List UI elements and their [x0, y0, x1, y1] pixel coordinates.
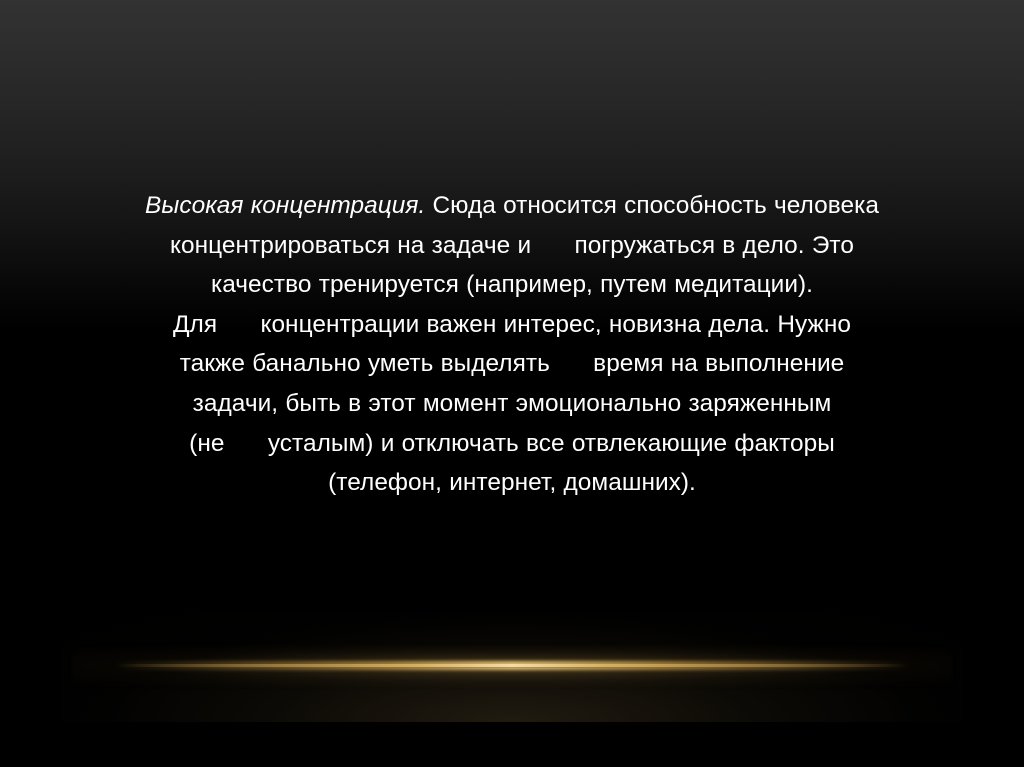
background-lower-glow: [62, 612, 962, 722]
body-remaining-text: Сюда относится способность человека конц…: [170, 192, 879, 496]
gold-accent-soft-band: [112, 661, 912, 670]
gold-accent-divider: [0, 646, 1024, 686]
slide-body-text: Высокая концентрация. Сюда относится спо…: [60, 186, 964, 503]
gold-accent-halo: [72, 646, 952, 686]
gold-accent-core-line: [117, 664, 907, 667]
gold-accent-hairline: [162, 667, 862, 668]
slide-canvas: Высокая концентрация. Сюда относится спо…: [0, 0, 1024, 767]
body-lead-phrase: Высокая концентрация.: [145, 192, 425, 219]
